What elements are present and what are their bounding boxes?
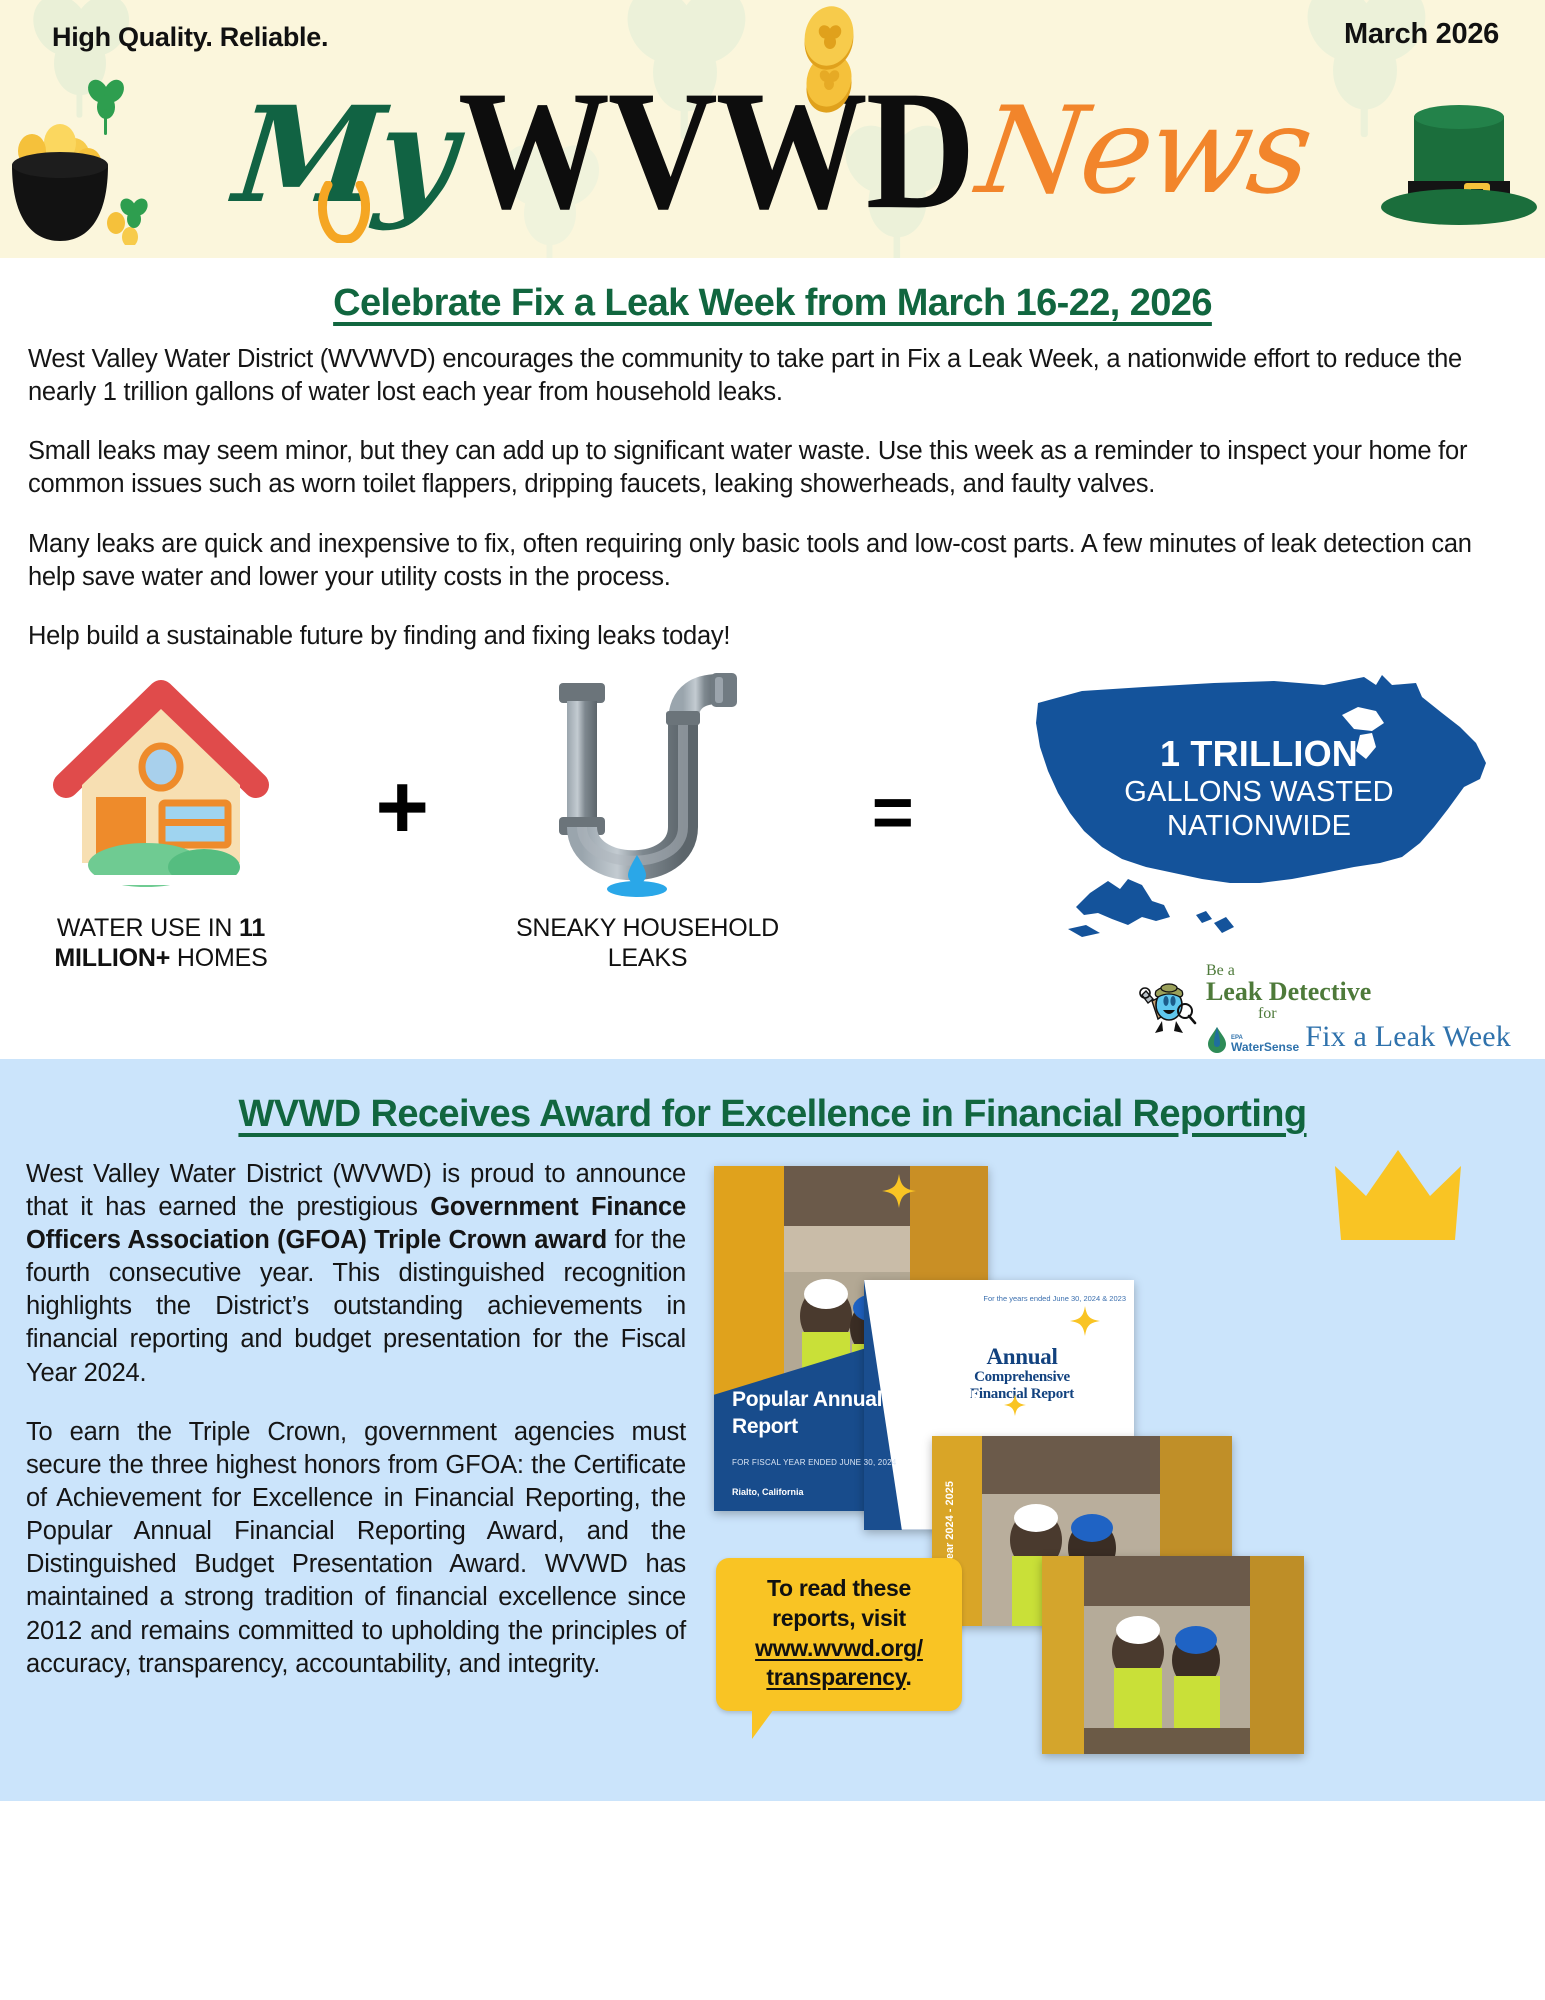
map-sub-line1: GALLONS WASTED (1024, 775, 1494, 809)
house-caption-post: HOMES (170, 944, 267, 972)
pafr-title: Popular Annual Financial Report (732, 1386, 988, 1441)
leak-detective-mascot-icon (1136, 977, 1198, 1039)
acfr-title-line2: Comprehensive (922, 1369, 1122, 1386)
report-covers-collage: Popular Annual Financial Report FOR FISC… (704, 1158, 1519, 1718)
award-text-column: West Valley Water District (WVWD) is pro… (26, 1158, 686, 1718)
acfr-title-line1: Annual (986, 1344, 1057, 1369)
pafr-subtitle: FOR FISCAL YEAR ENDED JUNE 30, 2024 (732, 1458, 896, 1467)
paragraph-1: West Valley Water District (WVWVD) encou… (28, 343, 1517, 409)
horseshoe-icon (318, 181, 370, 248)
pafr-location: Rialto, California (732, 1487, 804, 1497)
field-crew-photo (1042, 1556, 1304, 1754)
leak-infographic: WATER USE IN 11MILLION+ HOMES + (0, 653, 1545, 1053)
map-sub-line2: NATIONWIDE (1024, 809, 1494, 843)
paragraph-4: Help build a sustainable future by findi… (28, 620, 1517, 653)
infographic-house: WATER USE IN 11MILLION+ HOMES (26, 667, 296, 973)
callout-link-line1[interactable]: www.wvwd.org/ (755, 1635, 923, 1661)
newsletter-logo: My WVWD News (0, 60, 1545, 240)
fix-a-leak-heading: Celebrate Fix a Leak Week from March 16-… (0, 258, 1545, 325)
callout-link-line2[interactable]: transparency (766, 1664, 905, 1690)
sparkle-icon (1004, 1394, 1026, 1421)
house-caption: WATER USE IN 11MILLION+ HOMES (54, 913, 267, 973)
fix-a-leak-week-logo: Be a Leak Detective for EPA WaterSense (1136, 963, 1519, 1053)
award-paragraph-1: West Valley Water District (WVWD) is pro… (26, 1158, 686, 1390)
plus-operator: + (375, 771, 429, 845)
transparency-callout[interactable]: To read these reports, visit www.wvwd.or… (716, 1558, 962, 1712)
infographic-plus: + (359, 667, 445, 845)
water-drop-icon (1206, 1025, 1228, 1053)
logo-wvwd: WVWD (458, 65, 974, 235)
sparkle-icon (1070, 1306, 1100, 1341)
masthead: High Quality. Reliable. March 2026 (0, 0, 1545, 258)
callout-text: To read these reports, visit www.wvwd.or… (730, 1574, 948, 1694)
infographic-pipe: SNEAKY HOUSEHOLD LEAKS (509, 667, 787, 973)
callout-line1: To read these (767, 1575, 911, 1601)
acfr-watermark: West Valley Water District (874, 1290, 972, 1299)
fix-a-leak-body: West Valley Water District (WVWVD) encou… (0, 325, 1545, 653)
callout-line2: reports, visit (772, 1605, 906, 1631)
tagline: High Quality. Reliable. (52, 22, 328, 53)
leaking-pipe-icon (533, 667, 763, 897)
equals-operator: = (872, 785, 914, 843)
award-section: WVWD Receives Award for Excellence in Fi… (0, 1059, 1545, 1801)
crown-icon (1333, 1144, 1463, 1261)
leprechaun-hat-icon (1378, 97, 1543, 252)
house-caption-bold1: 11 (239, 914, 265, 942)
map-big-number: 1 TRILLION (1024, 733, 1494, 775)
infographic-map: 1 TRILLION GALLONS WASTED NATIONWIDE (999, 667, 1519, 1053)
pipe-caption: SNEAKY HOUSEHOLD LEAKS (509, 913, 787, 973)
acfr-years: For the years ended June 30, 2024 & 2023 (983, 1294, 1126, 1303)
logo-news: News (971, 92, 1316, 212)
watersense-logo: EPA WaterSense (1206, 1025, 1299, 1053)
award-paragraph-2: To earn the Triple Crown, government age… (26, 1416, 686, 1681)
fix-a-leak-section: Celebrate Fix a Leak Week from March 16-… (0, 258, 1545, 1059)
us-map-graphic: 1 TRILLION GALLONS WASTED NATIONWIDE (1024, 667, 1494, 957)
issue-date: March 2026 (1344, 18, 1499, 51)
paragraph-2: Small leaks may seem minor, but they can… (28, 435, 1517, 501)
gold-coins-icon (795, 6, 863, 121)
house-icon (46, 667, 276, 897)
infographic-equals: = (850, 667, 936, 843)
watersense-label: WaterSense (1231, 1041, 1299, 1053)
house-caption-bold2: MILLION+ (54, 944, 170, 972)
falw-leak-detective: Leak Detective (1206, 979, 1511, 1006)
callout-period: . (906, 1664, 912, 1690)
pot-of-gold-icon (6, 65, 166, 250)
award-heading: WVWD Receives Award for Excellence in Fi… (0, 1079, 1545, 1136)
falw-fix-a-leak-week: Fix a Leak Week (1305, 1022, 1511, 1053)
paragraph-3: Many leaks are quick and inexpensive to … (28, 528, 1517, 594)
sparkle-icon (882, 1174, 916, 1213)
house-caption-pre: WATER USE IN (57, 914, 239, 942)
map-statistic: 1 TRILLION GALLONS WASTED NATIONWIDE (1024, 733, 1494, 843)
